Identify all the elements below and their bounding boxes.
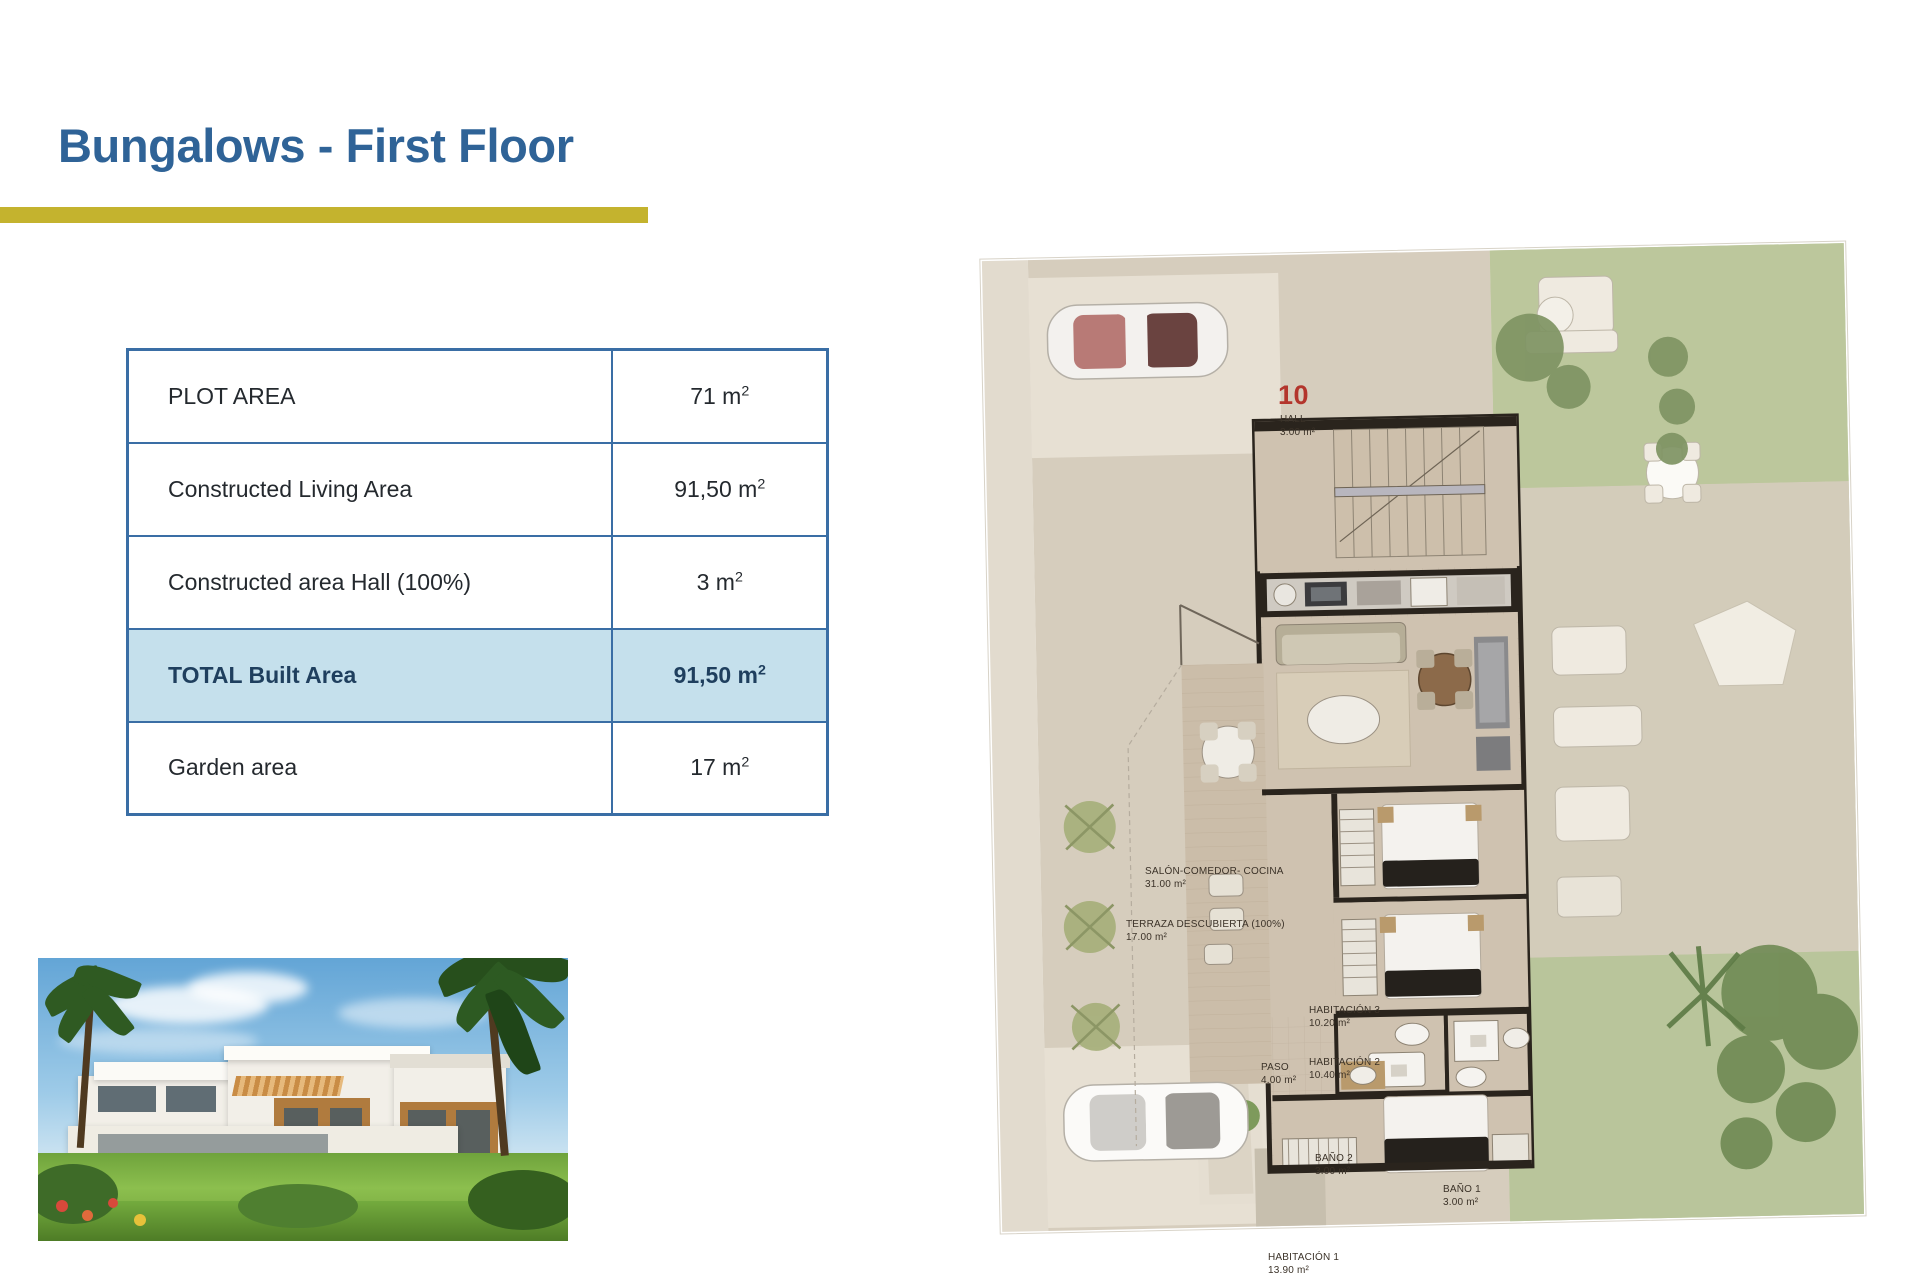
room-area: 13.90 m² <box>1268 1265 1339 1278</box>
room-area: 3.00 m² <box>1280 427 1315 440</box>
room-label-salon: SALÓN-COMEDOR- COCINA 31.00 m² <box>1145 866 1284 892</box>
window-glass <box>456 1110 490 1154</box>
room-label-hall: HALL 3.00 m² <box>1280 414 1315 440</box>
row-value: 71 m2 <box>612 350 827 443</box>
room-name: TERRAZA DESCUBIERTA (100%) <box>1126 919 1285 930</box>
room-label-habitacion-3: HABITACIÓN 3 10.20 m² <box>1309 1005 1380 1031</box>
room-area: 3.00 m² <box>1443 1197 1481 1210</box>
row-value-text: 91,50 m <box>674 662 758 688</box>
room-area: 10.20 m² <box>1309 1018 1380 1031</box>
row-value-text: 3 m <box>697 569 735 595</box>
room-name: BAÑO 2 <box>1315 1153 1353 1164</box>
floor-plan: 10 HALL 3.00 m² SALÓN-COMEDOR- COCINA 31… <box>978 240 1868 1245</box>
flower <box>108 1198 118 1208</box>
table-row: Constructed Living Area 91,50 m2 <box>128 443 828 536</box>
shrub <box>468 1170 568 1230</box>
room-area: 31.00 m² <box>1145 879 1284 892</box>
room-name: HABITACIÓN 3 <box>1309 1005 1380 1016</box>
room-area: 3.00 m² <box>1315 1166 1353 1179</box>
unit-number-badge: 10 <box>1278 380 1309 411</box>
shrub <box>238 1184 358 1228</box>
brochure-page: Bungalows - First Floor PLOT AREA 71 m2 … <box>0 0 1920 1280</box>
room-label-habitacion-2: HABITACIÓN 2 10.40 m² <box>1309 1057 1380 1083</box>
flower <box>56 1200 68 1212</box>
row-label: TOTAL Built Area <box>128 629 613 722</box>
table-row: PLOT AREA 71 m2 <box>128 350 828 443</box>
pergola-slats <box>232 1076 344 1096</box>
room-name: SALÓN-COMEDOR- COCINA <box>1145 866 1284 877</box>
room-label-bano-2: BAÑO 2 3.00 m² <box>1315 1153 1353 1179</box>
flower <box>134 1214 146 1226</box>
row-value-unit: 2 <box>735 569 743 585</box>
row-value-text: 17 m <box>690 754 741 780</box>
room-name: PASO <box>1261 1062 1289 1073</box>
area-spec-table: PLOT AREA 71 m2 Constructed Living Area … <box>126 348 829 816</box>
room-name: BAÑO 1 <box>1443 1184 1481 1195</box>
row-label: Constructed Living Area <box>128 443 613 536</box>
room-label-bano-1: BAÑO 1 3.00 m² <box>1443 1184 1481 1210</box>
row-value-unit: 2 <box>757 476 765 492</box>
row-label: PLOT AREA <box>128 350 613 443</box>
room-area: 10.40 m² <box>1309 1070 1380 1083</box>
room-label-paso: PASO 4.00 m² <box>1261 1062 1296 1088</box>
table-row-total: TOTAL Built Area 91,50 m2 <box>128 629 828 722</box>
row-value: 17 m2 <box>612 722 827 815</box>
row-label: Constructed area Hall (100%) <box>128 536 613 629</box>
row-value-unit: 2 <box>741 383 749 399</box>
row-value: 91,50 m2 <box>612 443 827 536</box>
exterior-photo <box>38 958 568 1241</box>
page-title: Bungalows - First Floor <box>58 118 574 173</box>
cloud-shape <box>188 972 308 1004</box>
row-value-unit: 2 <box>758 662 766 678</box>
title-underline-rule <box>0 207 648 223</box>
table-row: Garden area 17 m2 <box>128 722 828 815</box>
row-value: 91,50 m2 <box>612 629 827 722</box>
building-left-roof <box>94 1062 244 1080</box>
flower <box>82 1210 93 1221</box>
window-glass <box>166 1086 216 1112</box>
room-name: HABITACIÓN 1 <box>1268 1252 1339 1263</box>
row-value-unit: 2 <box>741 755 749 771</box>
room-area: 4.00 m² <box>1261 1075 1296 1088</box>
room-area: 17.00 m² <box>1126 932 1285 945</box>
row-value-text: 91,50 m <box>674 476 757 502</box>
room-label-habitacion-1: HABITACIÓN 1 13.90 m² <box>1268 1252 1339 1278</box>
room-name: HABITACIÓN 2 <box>1309 1057 1380 1068</box>
table-row: Constructed area Hall (100%) 3 m2 <box>128 536 828 629</box>
row-value-text: 71 m <box>690 383 741 409</box>
room-name: HALL <box>1280 414 1306 425</box>
window-glass <box>98 1086 156 1112</box>
room-label-terraza: TERRAZA DESCUBIERTA (100%) 17.00 m² <box>1126 919 1285 945</box>
row-label: Garden area <box>128 722 613 815</box>
row-value: 3 m2 <box>612 536 827 629</box>
floor-plan-drawing <box>978 240 1868 1245</box>
